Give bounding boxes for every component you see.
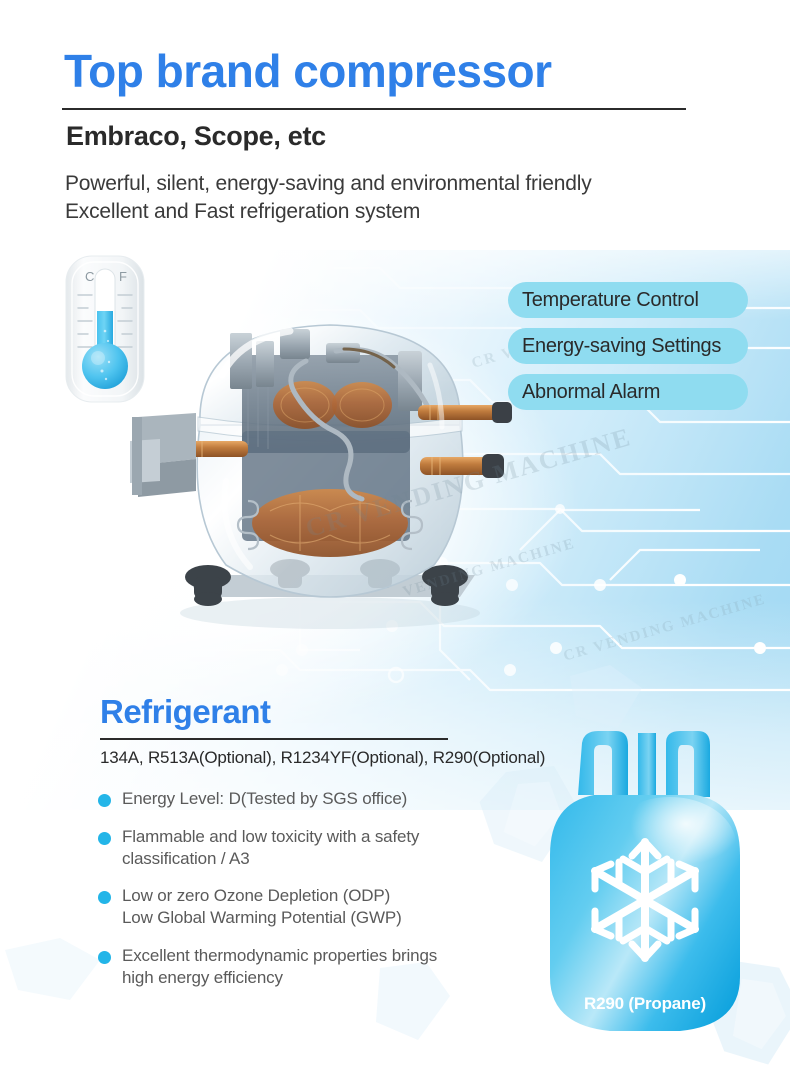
svg-text:F: F xyxy=(119,269,127,284)
refrigerant-bullet-list: Energy Level: D(Tested by SGS office) Fl… xyxy=(98,788,518,1004)
thermometer-icon: C F xyxy=(62,253,148,405)
bullet-line: Flammable and low toxicity with a safety xyxy=(122,826,419,848)
badge-label: Energy-saving Settings xyxy=(522,335,721,358)
list-item: Flammable and low toxicity with a safety… xyxy=(98,826,518,870)
bullet-line: Low Global Warming Potential (GWP) xyxy=(122,907,402,929)
bullet-line: Excellent thermodynamic properties bring… xyxy=(122,945,437,967)
refrigerant-types: 134A, R513A(Optional), R1234YF(Optional)… xyxy=(100,748,545,768)
badge-temperature-control[interactable]: Temperature Control xyxy=(508,282,748,318)
refrigerant-heading: Refrigerant xyxy=(100,693,271,731)
bullet-dot-icon xyxy=(98,891,111,904)
bullet-text: Energy Level: D(Tested by SGS office) xyxy=(122,788,407,810)
description-block: Powerful, silent, energy-saving and envi… xyxy=(65,170,765,225)
bullet-text: Flammable and low toxicity with a safety… xyxy=(122,826,419,870)
tank-label: R290 (Propane) xyxy=(520,994,770,1014)
badge-label: Temperature Control xyxy=(522,289,699,312)
refrigerant-divider xyxy=(100,738,448,740)
bullet-line: high energy efficiency xyxy=(122,967,437,989)
svg-text:C: C xyxy=(85,269,94,284)
badge-energy-saving-settings[interactable]: Energy-saving Settings xyxy=(508,328,748,364)
badge-abnormal-alarm[interactable]: Abnormal Alarm xyxy=(508,374,748,410)
bullet-line: Energy Level: D(Tested by SGS office) xyxy=(122,788,407,810)
feature-badge-list: Temperature Control Energy-saving Settin… xyxy=(508,282,748,420)
badge-label: Abnormal Alarm xyxy=(522,381,660,404)
bullet-dot-icon xyxy=(98,832,111,845)
list-item: Energy Level: D(Tested by SGS office) xyxy=(98,788,518,810)
brand-subtitle: Embraco, Scope, etc xyxy=(66,121,326,152)
bullet-text: Low or zero Ozone Depletion (ODP) Low Gl… xyxy=(122,885,402,929)
bullet-line: classification / A3 xyxy=(122,848,419,870)
list-item: Low or zero Ozone Depletion (ODP) Low Gl… xyxy=(98,885,518,929)
bullet-text: Excellent thermodynamic properties bring… xyxy=(122,945,437,989)
product-marketing-page: Top brand compressor Embraco, Scope, etc… xyxy=(0,0,790,1083)
bullet-dot-icon xyxy=(98,794,111,807)
description-line-2: Excellent and Fast refrigeration system xyxy=(65,198,765,226)
list-item: Excellent thermodynamic properties bring… xyxy=(98,945,518,989)
title-divider xyxy=(62,108,686,110)
page-title: Top brand compressor xyxy=(64,46,552,97)
bullet-dot-icon xyxy=(98,951,111,964)
compressor-cutaway-photo xyxy=(130,245,530,645)
description-line-1: Powerful, silent, energy-saving and envi… xyxy=(65,170,765,198)
bullet-line: Low or zero Ozone Depletion (ODP) xyxy=(122,885,402,907)
